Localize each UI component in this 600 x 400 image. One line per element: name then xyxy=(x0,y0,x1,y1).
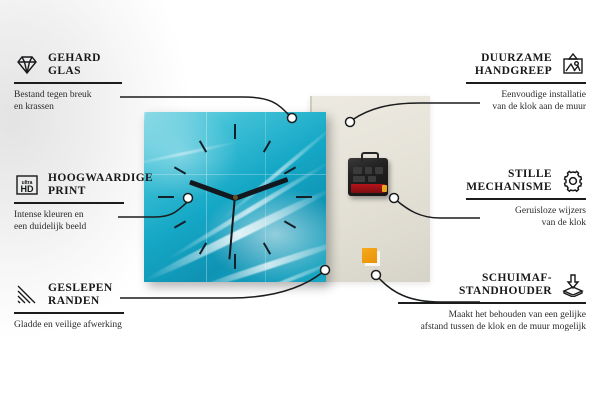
hanger-hook xyxy=(361,152,379,162)
glass-seam xyxy=(206,112,207,282)
hour-tick-3 xyxy=(296,196,312,198)
feather-streak xyxy=(187,236,326,282)
feature-divider xyxy=(398,302,586,304)
aa-battery xyxy=(351,184,385,193)
feature-title: GEHARD GLAS xyxy=(48,52,101,78)
feature-title: HOOGWAARDIGE PRINT xyxy=(48,172,153,198)
movement-detail xyxy=(365,167,372,174)
product-scene xyxy=(140,96,430,286)
movement-detail xyxy=(368,176,376,182)
feature-divider xyxy=(14,82,122,84)
feature-hoogwaardige-print: ultra HD HOOGWAARDIGE PRINT Intense kleu… xyxy=(14,172,124,233)
feature-divider xyxy=(14,202,124,204)
press-down-pad-icon xyxy=(560,273,586,297)
hanging-picture-icon xyxy=(560,53,586,77)
clock-movement xyxy=(348,158,388,196)
minute-hand xyxy=(234,177,288,201)
diamond-icon xyxy=(14,53,40,77)
feature-duurzame-handgreep: DUURZAME HANDGREEP Eenvoudige installati… xyxy=(466,52,586,113)
feature-heading: GESLEPEN RANDEN xyxy=(14,282,124,308)
feature-divider xyxy=(14,312,124,314)
hour-tick-1 xyxy=(263,140,271,152)
ultra-hd-icon: ultra HD xyxy=(14,173,40,197)
feature-description: Maakt het behouden van een gelijke afsta… xyxy=(398,309,586,333)
feature-description: Intense kleuren en een duidelijk beeld xyxy=(14,209,124,233)
feature-heading: STILLE MECHANISME xyxy=(466,168,586,194)
feature-heading: SCHUIMAF- STANDHOUDER xyxy=(398,272,586,298)
wall-clock xyxy=(144,112,326,282)
feature-heading: ultra HD HOOGWAARDIGE PRINT xyxy=(14,172,124,198)
feature-heading: DUURZAME HANDGREEP xyxy=(466,52,586,78)
movement-detail xyxy=(353,167,362,174)
hour-hand xyxy=(189,180,236,201)
hour-tick-9 xyxy=(158,196,174,198)
feature-gehard-glas: GEHARD GLAS Bestand tegen breuk en krass… xyxy=(14,52,122,113)
hour-tick-7 xyxy=(199,242,207,254)
feather-streak xyxy=(144,140,243,168)
hour-tick-2 xyxy=(284,166,296,174)
feature-description: Geruisloze wijzers van de klok xyxy=(466,205,586,229)
feather-streak xyxy=(218,254,326,282)
feature-description: Gladde en veilige afwerking xyxy=(14,319,124,331)
hour-tick-11 xyxy=(199,140,207,152)
foam-spacer xyxy=(362,248,377,263)
feature-stille-mechanisme: STILLE MECHANISME Geruisloze wijzers van… xyxy=(466,168,586,229)
second-hand xyxy=(229,198,236,260)
feather-streak xyxy=(144,184,326,282)
hour-tick-6 xyxy=(234,254,236,269)
gear-icon xyxy=(560,169,586,193)
feather-streak xyxy=(166,159,326,261)
feature-geslepen-randen: GESLEPEN RANDEN Gladde en veilige afwerk… xyxy=(14,282,124,331)
clock-center-cap xyxy=(233,195,238,200)
movement-detail xyxy=(353,176,365,182)
hour-tick-12 xyxy=(234,124,236,139)
feature-schuimafstandhouder: SCHUIMAF- STANDHOUDER Maakt het behouden… xyxy=(398,272,586,333)
glass-seam xyxy=(265,112,266,282)
hour-tick-8 xyxy=(174,220,186,228)
movement-detail xyxy=(375,167,383,174)
feature-heading: GEHARD GLAS xyxy=(14,52,122,78)
hour-tick-5 xyxy=(263,242,271,254)
feature-title: STILLE MECHANISME xyxy=(466,168,552,194)
glass-seam xyxy=(144,174,326,175)
feature-divider xyxy=(466,82,586,84)
ground-edges-icon xyxy=(14,283,40,307)
feature-title: GESLEPEN RANDEN xyxy=(48,282,113,308)
feature-divider xyxy=(466,198,586,200)
feature-description: Eenvoudige installatie van de klok aan d… xyxy=(466,89,586,113)
feature-title: SCHUIMAF- STANDHOUDER xyxy=(459,272,552,298)
feature-description: Bestand tegen breuk en krassen xyxy=(14,89,122,113)
hour-tick-4 xyxy=(284,220,296,228)
svg-text:HD: HD xyxy=(21,184,34,194)
feature-title: DUURZAME HANDGREEP xyxy=(475,52,552,78)
infographic-canvas: GEHARD GLAS Bestand tegen breuk en krass… xyxy=(0,0,600,400)
feather-streak xyxy=(220,122,326,221)
hour-tick-10 xyxy=(174,166,186,174)
